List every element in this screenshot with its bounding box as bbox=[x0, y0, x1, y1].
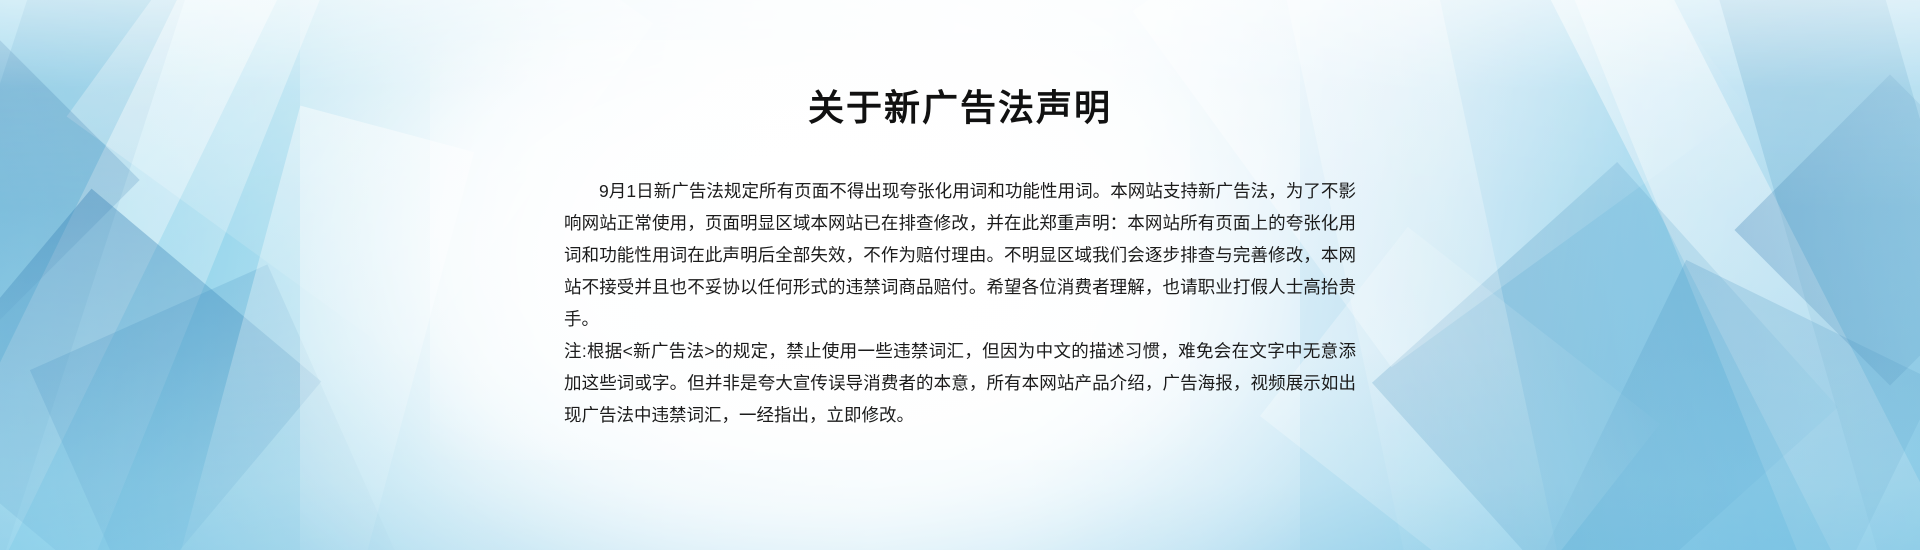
notice-paragraph-1: 9月1日新广告法规定所有页面不得出现夸张化用词和功能性用词。本网站支持新广告法，… bbox=[564, 175, 1356, 335]
notice-banner: 关于新广告法声明 9月1日新广告法规定所有页面不得出现夸张化用词和功能性用词。本… bbox=[0, 0, 1920, 550]
page-title: 关于新广告法声明 bbox=[808, 86, 1112, 129]
notice-content: 关于新广告法声明 9月1日新广告法规定所有页面不得出现夸张化用词和功能性用词。本… bbox=[0, 0, 1920, 550]
notice-body: 9月1日新广告法规定所有页面不得出现夸张化用词和功能性用词。本网站支持新广告法，… bbox=[564, 175, 1356, 431]
notice-paragraph-2: 注:根据<新广告法>的规定，禁止使用一些违禁词汇，但因为中文的描述习惯，难免会在… bbox=[564, 335, 1356, 431]
